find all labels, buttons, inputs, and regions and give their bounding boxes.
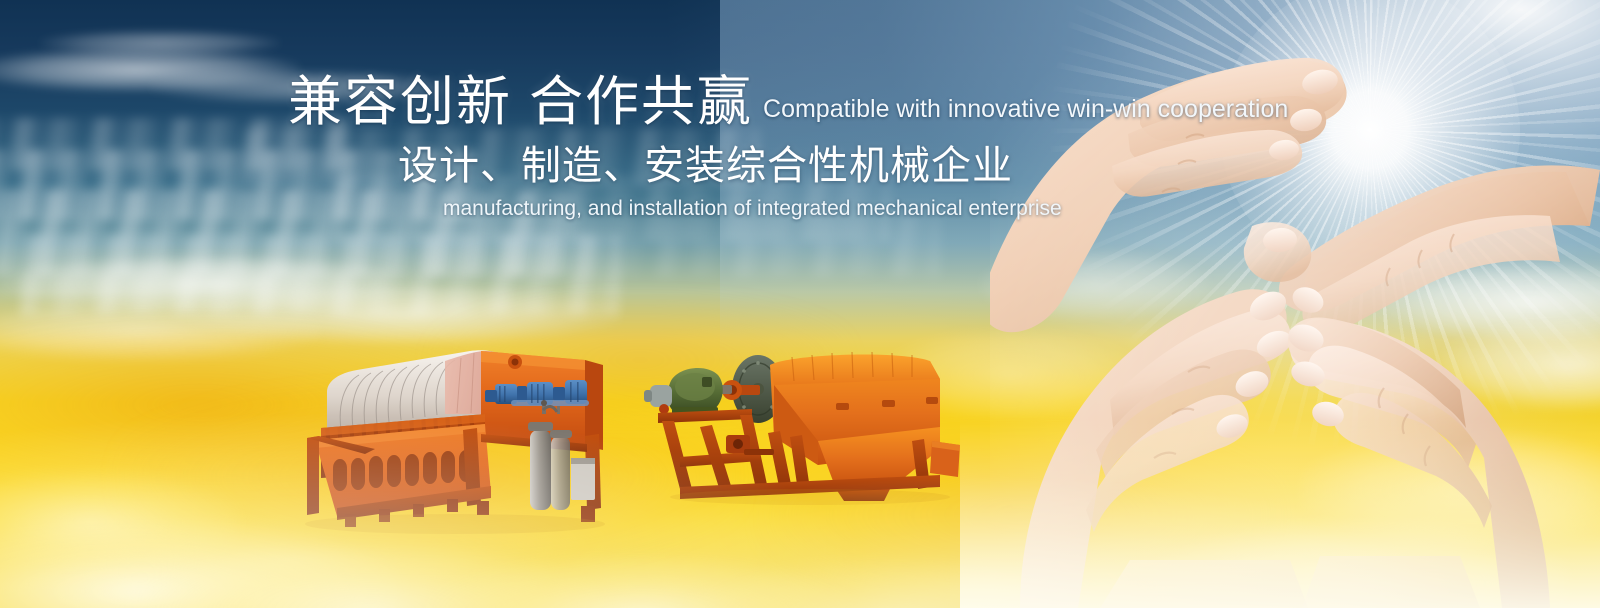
hero-banner: 兼容创新 合作共赢 Compatible with innovative win… bbox=[0, 0, 1600, 608]
machine-ceramic-disc-vacuum-filter-image bbox=[285, 318, 635, 543]
headline-line-primary: 兼容创新 合作共赢 Compatible with innovative win… bbox=[288, 70, 1288, 134]
headline-block: 兼容创新 合作共赢 Compatible with innovative win… bbox=[288, 70, 1288, 222]
machine-magnetic-separator-image bbox=[640, 337, 980, 512]
separator-lower-mechanism bbox=[726, 435, 774, 455]
headline-chinese-secondary: 设计、制造、安装综合性机械企业 bbox=[398, 140, 1288, 192]
headline-english-secondary: manufacturing, and installation of integ… bbox=[443, 196, 1288, 222]
headline-english-primary: Compatible with innovative win-win coope… bbox=[763, 94, 1288, 124]
separator-gearbox-motor bbox=[644, 368, 723, 415]
separator-discharge-chute bbox=[930, 441, 960, 477]
headline-chinese-primary: 兼容创新 合作共赢 bbox=[288, 70, 753, 134]
